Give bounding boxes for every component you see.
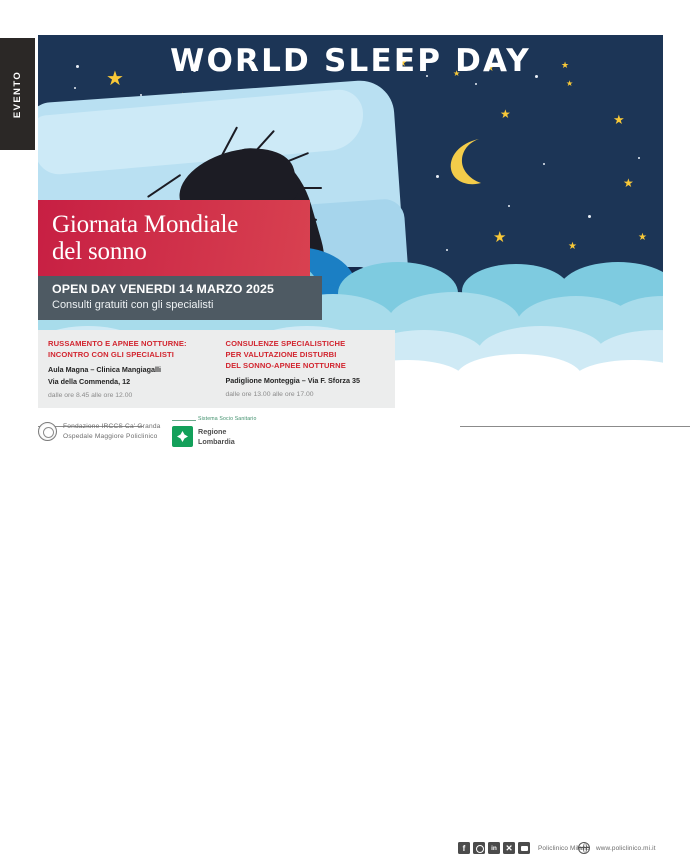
hospital-seal-icon (38, 422, 57, 441)
info-column-right: CONSULENZE SPECIALISTICHE PER VALUTAZION… (226, 338, 396, 408)
poster-subtitle-box: OPEN DAY VENERDI 14 MARZO 2025 Consulti … (38, 276, 322, 320)
info-column-left: RUSSAMENTO E APNEE NOTTURNE: INCONTRO CO… (48, 338, 218, 408)
info-heading-line1: CONSULENZE SPECIALISTICHE (226, 338, 396, 349)
cloud-icon (456, 354, 582, 400)
open-day-label: OPEN DAY VENERDI 14 MARZO 2025 (52, 282, 322, 296)
website-link[interactable]: www.policlinico.mi.it (578, 842, 656, 854)
linkedin-icon[interactable]: in (488, 842, 500, 854)
facebook-icon[interactable]: f (458, 842, 470, 854)
youtube-icon[interactable] (518, 842, 530, 854)
info-hours: dalle ore 13.00 alle ore 17.00 (226, 391, 396, 398)
regione-logo-body: Regione Lombardia (172, 426, 235, 447)
poster-headline: WORLD SLEEP DAY (38, 43, 663, 79)
info-heading-line3: DEL SONNO-APNEE NOTTURNE (226, 360, 396, 371)
poster-title-line1: Giornata Mondiale (52, 211, 310, 238)
fondazione-line2: Ospedale Maggiore Policlinico (63, 432, 161, 442)
x-twitter-icon[interactable]: ✕ (503, 842, 515, 854)
star-dot (508, 205, 510, 207)
regione-rule (172, 420, 196, 421)
poster-title-box: Giornata Mondiale del sonno (38, 200, 310, 276)
sistema-socio-sanitario-label: Sistema Socio Sanitario (198, 416, 257, 422)
info-place-line1: Padiglione Monteggia – Via F. Sforza 35 (226, 376, 396, 387)
poster-info-panel: RUSSAMENTO E APNEE NOTTURNE: INCONTRO CO… (38, 330, 395, 408)
footer-divider-right (460, 426, 690, 427)
fondazione-logo-text: Fondazione IRCCS Ca' Granda Ospedale Mag… (63, 422, 161, 442)
globe-icon (578, 842, 590, 854)
category-tab-evento[interactable]: EVENTO (0, 38, 35, 150)
moon-icon (439, 135, 491, 187)
info-hours: dalle ore 8.45 alle ore 12.00 (48, 392, 218, 399)
regione-line2: Lombardia (198, 437, 235, 447)
poster-screenshot: EVENTO ★ ★ ★ ★ ★ ★ ★ ★ ★ ★ ★ ★ ★ ★ ★ ★ ★… (0, 0, 700, 454)
info-place-line1: Aula Magna – Clinica Mangiagalli (48, 365, 218, 376)
star-icon: ★ (566, 80, 573, 88)
fondazione-line1: Fondazione IRCCS Ca' Granda (63, 422, 161, 432)
star-icon: ★ (500, 108, 511, 120)
lombardy-rose-icon (172, 426, 193, 447)
star-dot (543, 163, 545, 165)
free-consult-label: Consulti gratuiti con gli specialisti (52, 299, 322, 311)
fondazione-logo[interactable]: Fondazione IRCCS Ca' Granda Ospedale Mag… (38, 422, 161, 442)
sleep-line (147, 174, 181, 198)
star-dot (638, 157, 640, 159)
instagram-icon[interactable] (473, 842, 485, 854)
star-icon: ★ (623, 177, 634, 189)
star-dot (475, 83, 477, 85)
category-tab-label: EVENTO (12, 70, 23, 117)
info-heading-line2: INCONTRO CON GLI SPECIALISTI (48, 349, 218, 360)
social-links: f in ✕ Policlinico Milano (458, 842, 590, 854)
regione-line1: Regione (198, 427, 235, 437)
info-heading-line2: PER VALUTAZIONE DISTURBI (226, 349, 396, 360)
star-dot (74, 87, 76, 89)
poster-headline-text: WORLD SLEEP DAY (170, 43, 531, 79)
regione-logo-text: Regione Lombardia (198, 427, 235, 446)
website-url: www.policlinico.mi.it (596, 845, 656, 852)
poster-title-line2: del sonno (52, 238, 310, 265)
footer: Fondazione IRCCS Ca' Granda Ospedale Mag… (0, 414, 700, 454)
info-place-line2: Via della Commenda, 12 (48, 377, 218, 388)
star-icon: ★ (613, 113, 625, 126)
info-heading-line1: RUSSAMENTO E APNEE NOTTURNE: (48, 338, 218, 349)
